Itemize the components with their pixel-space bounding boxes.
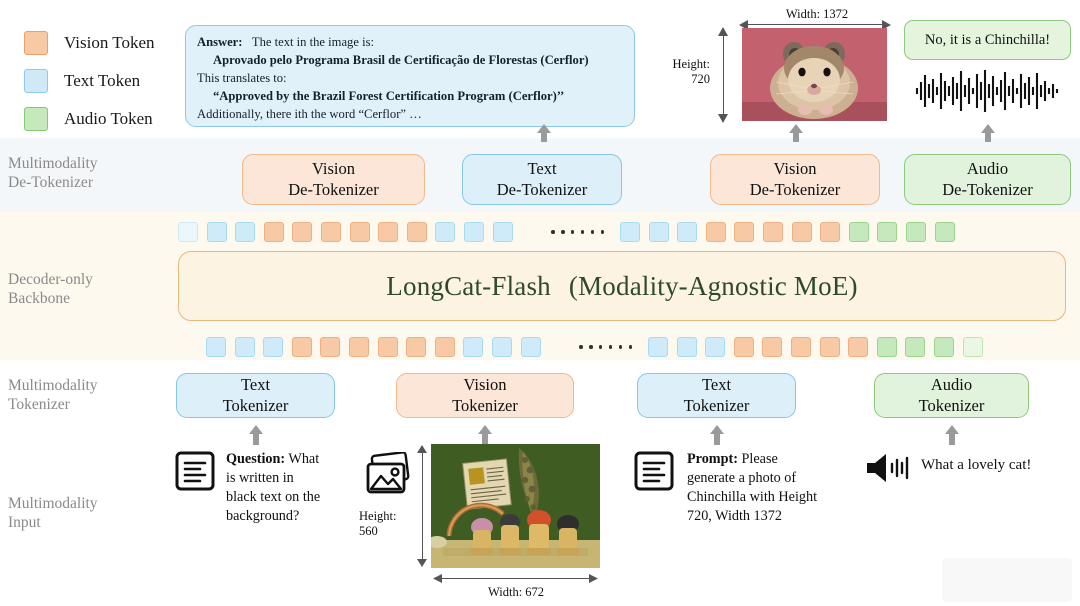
token-audio <box>877 222 897 242</box>
token-audio <box>877 337 897 357</box>
text-tokenizer-1[interactable]: Text Tokenizer <box>176 373 335 418</box>
token-vision <box>791 337 811 357</box>
prompt-label: Prompt: <box>687 451 738 467</box>
output-image-width-label: Width: 1372 <box>747 7 887 22</box>
answer-line-5: Additionally, there ith the word “Cerflo… <box>197 106 623 124</box>
arrow-vision-detok-to-image <box>789 124 803 142</box>
watermark <box>942 558 1072 602</box>
text-tokenizer-2[interactable]: Text Tokenizer <box>637 373 796 418</box>
answer-intro: The text in the image is: <box>252 35 374 49</box>
input-sequence-ellipsis <box>576 337 635 357</box>
token-text <box>263 337 283 357</box>
token-text <box>677 222 697 242</box>
legend-label-text: Text Token <box>64 71 140 91</box>
token-text <box>206 337 226 357</box>
input-token-sequence-right <box>648 336 991 358</box>
legend-item-text: Text Token <box>24 62 155 100</box>
token-vision <box>349 337 369 357</box>
token-audio <box>934 337 954 357</box>
token-text <box>493 222 513 242</box>
text-token-swatch-icon <box>24 69 48 93</box>
arrow-image-to-vision-tokenizer <box>478 425 492 445</box>
token-text <box>521 337 541 357</box>
answer-line-2: Aprovado pelo Programa Brasil de Certifi… <box>197 52 623 70</box>
legend-label-vision: Vision Token <box>64 33 155 53</box>
input-height-arrow-up-icon <box>415 444 429 456</box>
input-image-height-label: Height: 560 <box>359 509 417 539</box>
input-width-arrow-left-icon <box>432 572 445 585</box>
token-vision <box>321 222 341 242</box>
vision-de-tokenizer-2[interactable]: Vision De-Tokenizer <box>710 154 880 205</box>
token-text <box>235 222 255 242</box>
question-label: Question: <box>226 451 285 467</box>
token-textpale <box>178 222 198 242</box>
answer-line-3: This translates to: <box>197 70 623 88</box>
legend-item-audio: Audio Token <box>24 100 155 138</box>
input-token-sequence-left <box>206 336 549 358</box>
token-vision <box>435 337 455 357</box>
token-audio <box>905 337 925 357</box>
token-vision <box>406 337 426 357</box>
token-vision <box>264 222 284 242</box>
token-text <box>649 222 669 242</box>
token-vision <box>734 222 754 242</box>
token-text <box>463 337 483 357</box>
token-text <box>677 337 697 357</box>
token-vision <box>320 337 340 357</box>
output-height-arrow-down-icon <box>716 110 730 124</box>
arrow-prompt-to-text-tokenizer <box>710 425 724 445</box>
token-text <box>620 222 640 242</box>
token-vision <box>820 222 840 242</box>
arrow-text-detok-to-answer <box>537 124 551 142</box>
token-text <box>435 222 455 242</box>
token-vision <box>763 222 783 242</box>
audio-tokenizer[interactable]: Audio Tokenizer <box>874 373 1029 418</box>
token-vision <box>378 222 398 242</box>
audio-input-text: What a lovely cat! <box>921 455 1080 475</box>
answer-line-4: “Approved by the Brazil Forest Certifica… <box>197 88 623 106</box>
token-vision <box>706 222 726 242</box>
token-vision <box>848 337 868 357</box>
token-text <box>705 337 725 357</box>
answer-output-bubble: Answer: The text in the image is: Aprova… <box>185 25 635 127</box>
legend-item-vision: Vision Token <box>24 24 155 62</box>
token-audio <box>935 222 955 242</box>
token-audio <box>906 222 926 242</box>
document-text-icon <box>633 450 675 492</box>
image-stack-icon <box>364 452 414 498</box>
answer-line-1: Answer: The text in the image is: <box>197 34 623 52</box>
token-vision <box>407 222 427 242</box>
input-row-label: Multimodality Input <box>8 495 168 533</box>
arrow-question-to-text-tokenizer <box>249 425 263 445</box>
text-de-tokenizer[interactable]: Text De-Tokenizer <box>462 154 622 205</box>
backbone-name: LongCat-Flash <box>386 271 551 302</box>
vision-tokenizer[interactable]: Vision Tokenizer <box>396 373 574 418</box>
token-text <box>492 337 512 357</box>
token-text <box>464 222 484 242</box>
token-vision <box>378 337 398 357</box>
input-background-image <box>431 444 600 568</box>
arrow-audio-to-audio-tokenizer <box>945 425 959 445</box>
speaker-volume-icon <box>864 452 918 484</box>
output-image-height-label: Height: 720 <box>656 57 710 87</box>
token-audio <box>849 222 869 242</box>
answer-label: Answer: <box>197 35 242 49</box>
token-vision <box>762 337 782 357</box>
input-height-dim-line <box>422 450 423 562</box>
question-input-text: Question: What is written in black text … <box>226 450 326 526</box>
output-token-sequence-left <box>178 221 521 243</box>
token-text <box>648 337 668 357</box>
output-height-dim-line <box>723 30 724 120</box>
output-height-arrow-up-icon <box>716 26 730 40</box>
generated-chinchilla-image <box>742 28 887 121</box>
audio-waveform-icon <box>914 68 1062 114</box>
audio-reply-text: No, it is a Chinchilla! <box>925 32 1050 49</box>
token-audiopale <box>963 337 983 357</box>
input-width-arrow-right-icon <box>586 572 599 585</box>
token-vision <box>820 337 840 357</box>
tokenizer-row-label: Multimodality Tokenizer <box>8 377 168 415</box>
token-vision <box>792 222 812 242</box>
audio-de-tokenizer[interactable]: Audio De-Tokenizer <box>904 154 1071 205</box>
input-width-dim-line <box>440 578 592 579</box>
output-width-dim-line <box>744 24 885 25</box>
token-vision <box>292 337 312 357</box>
token-text <box>235 337 255 357</box>
document-text-icon <box>174 450 216 492</box>
legend-label-audio: Audio Token <box>64 109 153 129</box>
detokenizer-row-label: Multimodality De-Tokenizer <box>8 155 168 193</box>
prompt-input-text: Prompt: Please generate a photo of Chinc… <box>687 450 829 526</box>
vision-token-swatch-icon <box>24 31 48 55</box>
token-text <box>207 222 227 242</box>
audio-reply-bubble: No, it is a Chinchilla! <box>904 20 1071 60</box>
token-vision <box>350 222 370 242</box>
output-token-sequence-right <box>620 221 963 243</box>
legend: Vision Token Text Token Audio Token <box>24 24 155 138</box>
token-vision <box>734 337 754 357</box>
audio-token-swatch-icon <box>24 107 48 131</box>
arrow-audio-detok-to-waveform <box>981 124 995 142</box>
output-sequence-ellipsis <box>548 222 607 242</box>
input-height-arrow-down-icon <box>415 556 429 568</box>
longcat-flash-backbone[interactable]: LongCat-Flash (Modality-Agnostic MoE) <box>178 251 1066 321</box>
token-vision <box>292 222 312 242</box>
backbone-row-label: Decoder-only Backbone <box>8 271 168 309</box>
vision-de-tokenizer-1[interactable]: Vision De-Tokenizer <box>242 154 425 205</box>
input-image-width-label: Width: 672 <box>436 585 596 600</box>
backbone-subtitle: (Modality-Agnostic MoE) <box>569 271 858 302</box>
